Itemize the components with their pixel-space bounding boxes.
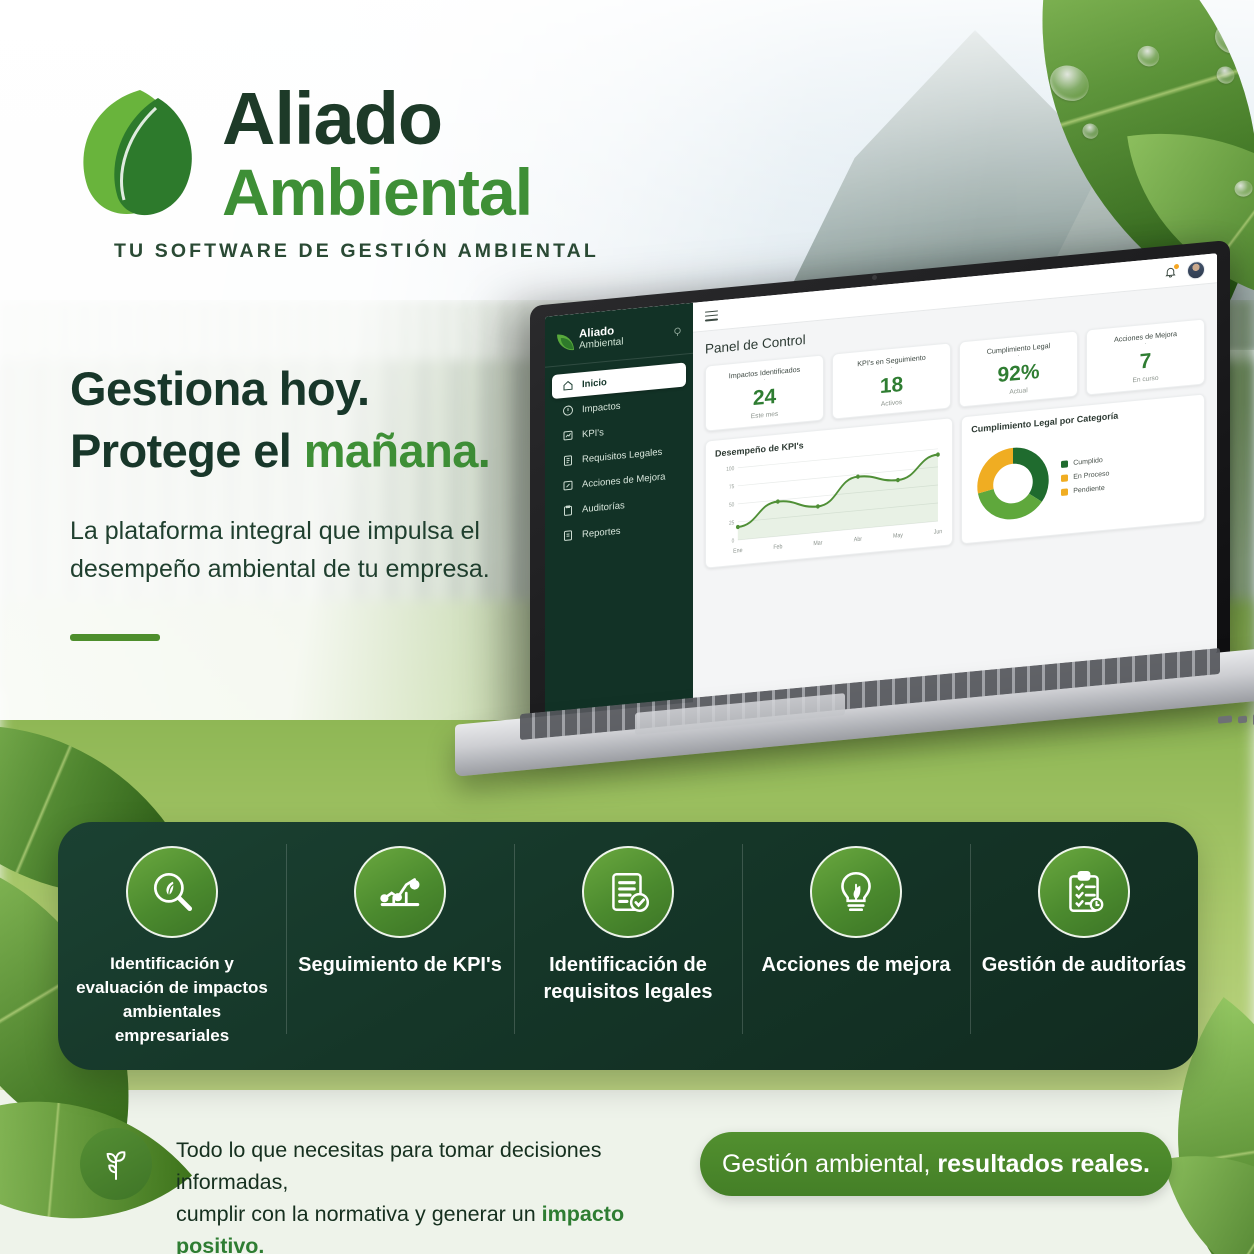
- feature-item-identificacion-impactos[interactable]: Identificación y evaluación de impactos …: [58, 822, 286, 1048]
- laptop-port: [1218, 715, 1232, 723]
- feature-label: Acciones de mejora: [752, 952, 960, 979]
- leaf-logo-icon: [72, 84, 207, 224]
- svg-text:0: 0: [732, 538, 735, 545]
- feature-label: Seguimiento de KPI's: [296, 952, 504, 979]
- avatar[interactable]: [1187, 260, 1205, 280]
- clipboard-check-icon: [1038, 846, 1130, 938]
- line-chart-card: Desempeño de KPI's 1007550250EneFebMarAb…: [705, 417, 953, 568]
- svg-text:100: 100: [726, 466, 734, 473]
- trend-chart-icon: [354, 846, 446, 938]
- sidebar-label: KPI's: [582, 427, 604, 440]
- legend-swatch: [1061, 488, 1068, 496]
- kpi-card-kpis-seguimiento[interactable]: KPI's en Seguimiento · 18 Activos: [832, 342, 951, 419]
- chart-square-icon: [562, 429, 574, 442]
- clipboard-icon: [562, 504, 574, 517]
- sprout-icon: [80, 1128, 152, 1200]
- kpi-card-acciones-mejora[interactable]: Acciones de Mejora · 7 En curso: [1086, 318, 1205, 395]
- brand-logo: Aliado Ambiental TU SOFTWARE DE GESTIÓN …: [72, 80, 612, 270]
- pin-icon[interactable]: [672, 325, 683, 337]
- bell-icon[interactable]: [1164, 265, 1177, 280]
- home-icon: [562, 379, 574, 392]
- svg-text:May: May: [893, 532, 903, 539]
- sidebar-label: Auditorías: [582, 500, 625, 515]
- donut-chart-plot: Cumplido En Proceso Pendiente: [971, 418, 1195, 534]
- line-chart-plot: 1007550250EneFebMarAbrMayJun: [715, 442, 943, 559]
- sidebar-label: Requisitos Legales: [582, 446, 662, 465]
- feature-item-seguimiento-kpis[interactable]: Seguimiento de KPI's: [286, 822, 514, 979]
- sidebar-logo: Aliado Ambiental: [545, 313, 693, 365]
- svg-text:75: 75: [729, 484, 734, 491]
- report-icon: [562, 529, 574, 542]
- leaf-logo-icon: [557, 333, 574, 352]
- svg-text:Abr: Abr: [854, 536, 862, 543]
- dashboard-sidebar: Aliado Ambiental Inicio Impactos KPI's: [545, 303, 693, 717]
- laptop-screen: Aliado Ambiental Inicio Impactos KPI's: [545, 253, 1217, 717]
- hamburger-icon[interactable]: [705, 310, 718, 321]
- feature-item-gestion-auditorias[interactable]: Gestión de auditorías: [970, 822, 1198, 979]
- donut-chart-svg: [971, 437, 1055, 529]
- alert-icon: [562, 404, 574, 417]
- cta-button[interactable]: Gestión ambiental, resultados reales.: [700, 1132, 1172, 1196]
- sidebar-label: Acciones de Mejora: [582, 471, 665, 490]
- feature-label: Gestión de auditorías: [980, 952, 1188, 979]
- legend-label: En Proceso: [1073, 470, 1109, 480]
- feature-item-acciones-mejora[interactable]: Acciones de mejora: [742, 822, 970, 979]
- features-panel: Identificación y evaluación de impactos …: [58, 822, 1198, 1070]
- kpi-card-impactos[interactable]: Impactos Identificados · 24 Este mes: [705, 354, 824, 431]
- laptop-mockup: Aliado Ambiental Inicio Impactos KPI's: [200, 255, 1254, 775]
- cta-plain: Gestión ambiental,: [722, 1150, 937, 1178]
- dashboard-ui: Aliado Ambiental Inicio Impactos KPI's: [545, 253, 1217, 717]
- sidebar-label: Reportes: [582, 525, 621, 540]
- bottom-line-2-plain: cumplir con la normativa y generar un: [176, 1202, 542, 1226]
- svg-text:Ene: Ene: [733, 548, 742, 555]
- bottom-description: Todo lo que necesitas para tomar decisio…: [176, 1134, 676, 1254]
- svg-text:Jun: Jun: [934, 529, 942, 536]
- svg-text:Feb: Feb: [773, 544, 782, 551]
- logo-line-1: Aliado: [222, 80, 532, 158]
- cta-strong: resultados reales.: [937, 1150, 1150, 1178]
- feature-item-requisitos-legales[interactable]: Identificación de requisitos legales: [514, 822, 742, 1006]
- sidebar-label: Impactos: [582, 400, 621, 415]
- bottom-bar: Todo lo que necesitas para tomar decisio…: [0, 1110, 1254, 1230]
- donut-legend: Cumplido En Proceso Pendiente: [1061, 456, 1109, 496]
- document-icon: [562, 454, 574, 467]
- laptop-port: [1238, 716, 1247, 724]
- feature-label: Identificación y evaluación de impactos …: [68, 952, 276, 1048]
- legend-label: Cumplido: [1073, 457, 1103, 467]
- legend-item: En Proceso: [1061, 470, 1109, 482]
- legend-swatch: [1061, 474, 1068, 482]
- donut-chart-card: Cumplimiento Legal por Categoría Cumplid…: [961, 393, 1205, 544]
- legend-item: Cumplido: [1061, 456, 1109, 468]
- svg-text:50: 50: [729, 502, 734, 509]
- kpi-card-cumplimiento-legal[interactable]: Cumplimiento Legal · 92% Actual: [959, 330, 1078, 407]
- magnifier-leaf-icon: [126, 846, 218, 938]
- pencil-square-icon: [562, 479, 574, 492]
- logo-line-2: Ambiental: [222, 158, 532, 226]
- dashboard-main: Panel de Control Impactos Identificados …: [693, 283, 1217, 703]
- bottom-line-1: Todo lo que necesitas para tomar decisio…: [176, 1138, 601, 1194]
- legend-item: Pendiente: [1061, 484, 1109, 496]
- document-check-icon: [582, 846, 674, 938]
- feature-label: Identificación de requisitos legales: [524, 952, 732, 1006]
- lightbulb-leaf-icon: [810, 846, 902, 938]
- topbar-actions: [1164, 260, 1205, 282]
- notification-dot: [1174, 263, 1179, 268]
- green-accent-bar: [70, 634, 160, 641]
- legend-swatch: [1061, 460, 1068, 468]
- dashboard-content: Panel de Control Impactos Identificados …: [693, 253, 1217, 703]
- sidebar-label: Inicio: [582, 376, 607, 389]
- line-chart-svg: 1007550250EneFebMarAbrMayJun: [715, 442, 943, 559]
- svg-text:25: 25: [729, 520, 734, 527]
- legend-label: Pendiente: [1073, 485, 1105, 495]
- svg-text:Mar: Mar: [813, 540, 822, 547]
- cta-label: Gestión ambiental, resultados reales.: [722, 1150, 1150, 1179]
